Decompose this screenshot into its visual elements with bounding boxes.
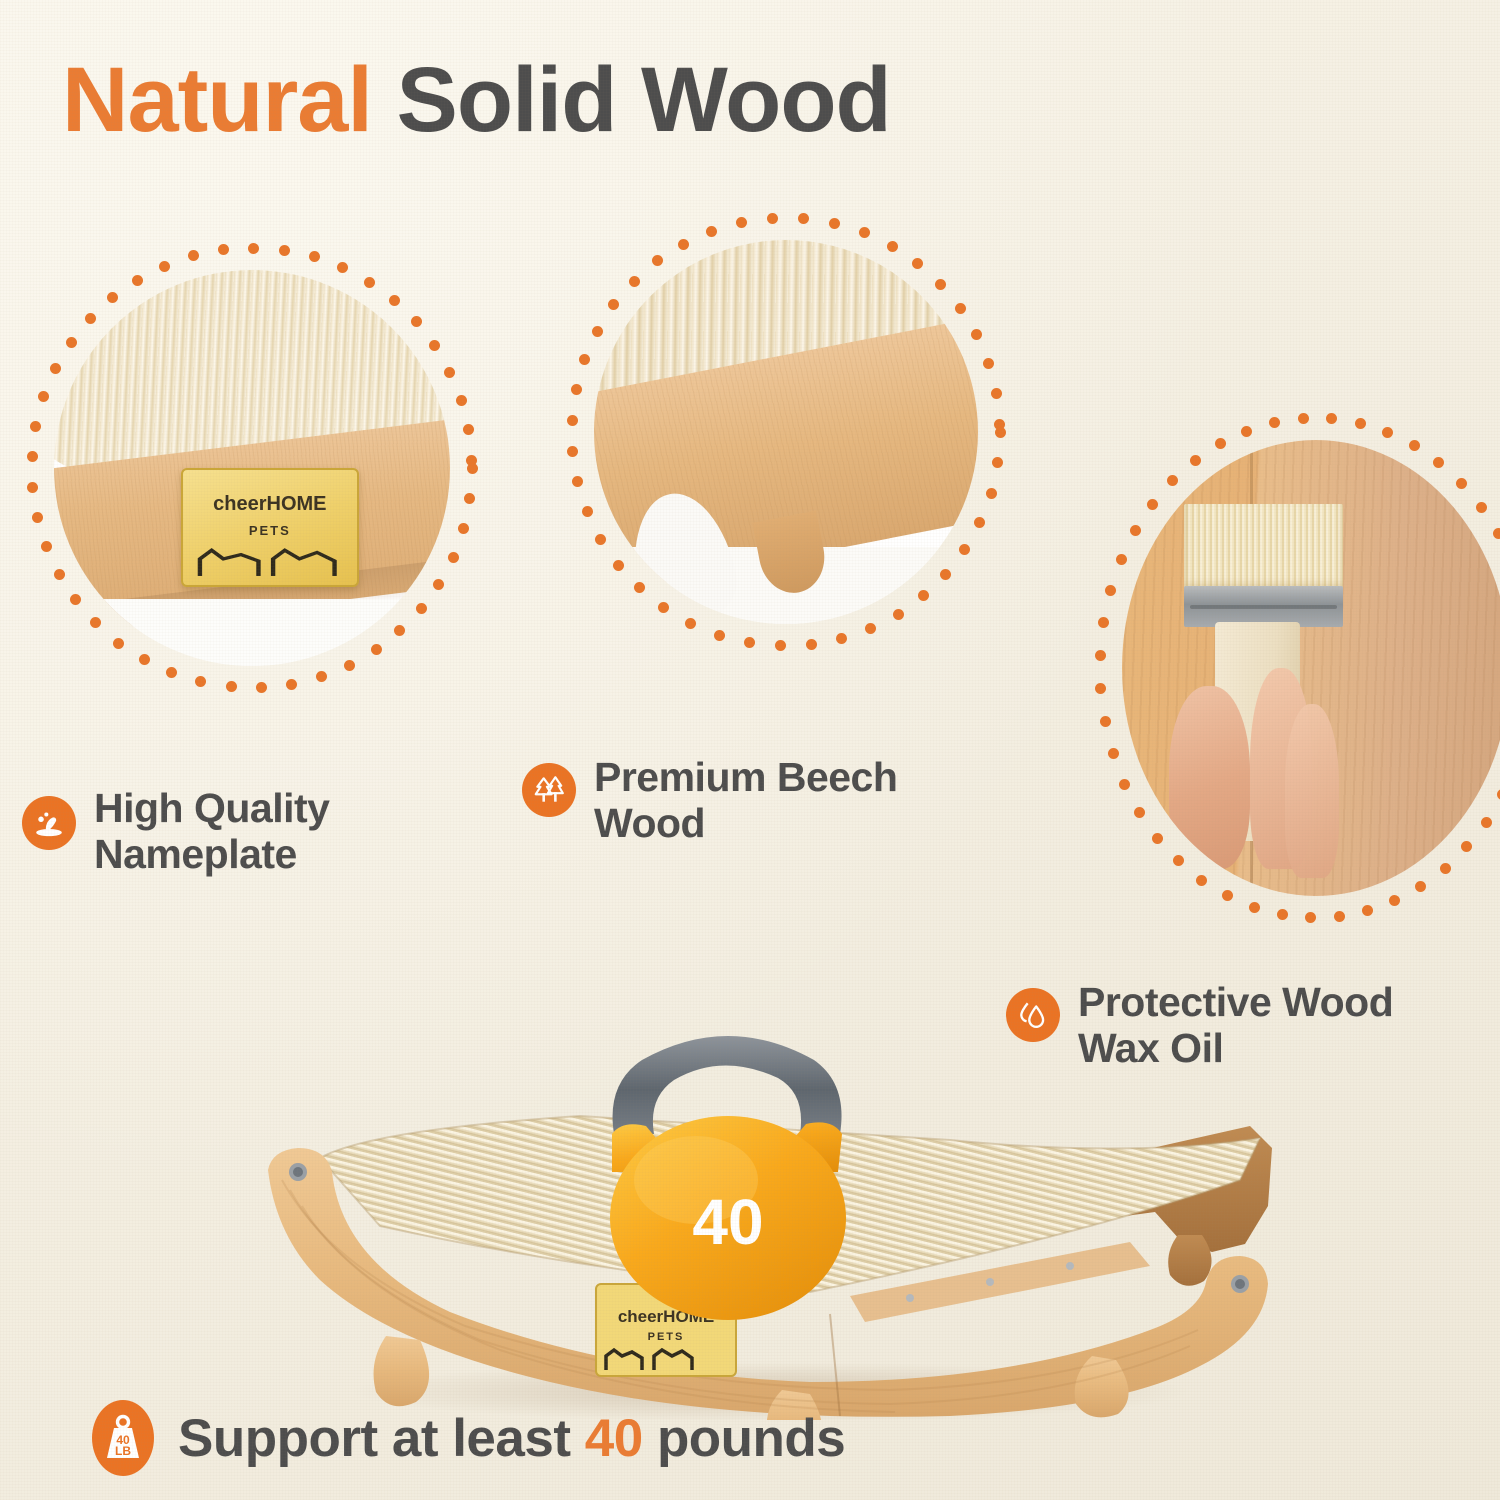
nameplate-plaque: cheerHOME PETS [181, 468, 359, 587]
polish-shine-icon [22, 796, 76, 850]
feature-high-quality-nameplate: High Quality Nameplate [22, 786, 452, 878]
title-rest: Solid Wood [397, 49, 891, 151]
feature-label-line1: Premium Beech [594, 755, 897, 801]
cat-ears-icon [197, 546, 343, 578]
product-illustration: cheerHOME PETS 40 [250, 1030, 1280, 1420]
support-text-after: pounds [657, 1409, 845, 1468]
feature-label: High Quality Nameplate [94, 786, 329, 878]
kettlebell-40lb: 40 [610, 1036, 846, 1320]
product-nameplate-sub: PETS [648, 1331, 685, 1343]
weight-40lb-icon: 40 LB [92, 1400, 154, 1476]
support-text-before: Support at least [178, 1409, 571, 1468]
feature-label-line1: Protective Wood [1078, 980, 1393, 1026]
support-weight-highlight: 40 [585, 1409, 643, 1468]
photo-nameplate-closeup: cheerHOME PETS [54, 270, 450, 666]
support-capacity-text: Support at least 40 pounds [178, 1408, 845, 1469]
support-capacity-row: 40 LB Support at least 40 pounds [92, 1400, 845, 1476]
feature-premium-beech-wood: Premium Beech Wood [522, 755, 1012, 847]
hand-middle-finger [1285, 704, 1339, 877]
title-highlight: Natural [62, 49, 372, 151]
kettlebell-weight-label: 40 [692, 1186, 763, 1258]
brush-bristles [1184, 504, 1343, 591]
photo-brush-applying-oil [1122, 440, 1500, 896]
brush-ferrule [1184, 586, 1343, 627]
nameplate-sub: PETS [183, 523, 357, 538]
front-foot-left [374, 1336, 430, 1406]
detail-photo-nameplate: cheerHOME PETS [32, 248, 472, 688]
pine-trees-icon [522, 763, 576, 817]
nameplate-brand: cheerHOME [183, 493, 357, 516]
floor-background [54, 599, 450, 666]
detail-photo-wax-oil [1100, 418, 1500, 918]
feature-label-line2: Nameplate [94, 832, 329, 878]
svg-text:LB: LB [115, 1444, 131, 1458]
photo-beech-edge [594, 240, 978, 624]
rear-foot [1168, 1235, 1211, 1286]
feature-label: Premium Beech Wood [594, 755, 897, 847]
product-photo-cat-scratcher: cheerHOME PETS 40 [250, 1030, 1280, 1420]
hand-thumb [1169, 686, 1250, 868]
product-feature-poster: Natural Solid Wood cheerHOME PETS [0, 0, 1500, 1500]
feature-label-line1: High Quality [94, 786, 329, 832]
feature-label-line2: Wood [594, 801, 897, 847]
page-title: Natural Solid Wood [62, 52, 891, 149]
detail-photo-beech [572, 218, 1000, 646]
